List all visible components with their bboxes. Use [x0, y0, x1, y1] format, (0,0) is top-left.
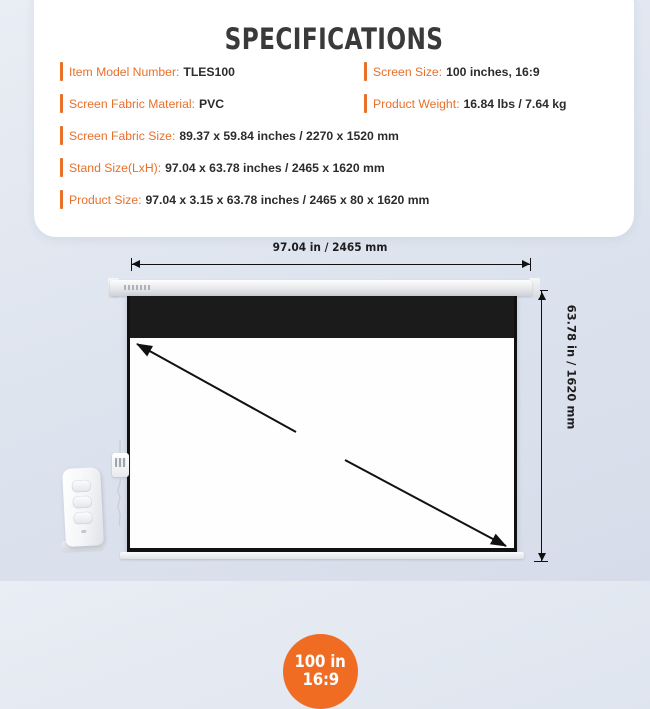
screen-weighted-bar — [120, 552, 524, 559]
arrow-left-icon — [132, 260, 140, 268]
spec-list: Item Model Number: TLES100 Screen Size: … — [60, 60, 616, 220]
spec-item-screen-fabric-size: Screen Fabric Size: 89.37 x 59.84 inches… — [60, 124, 399, 147]
spec-label: Screen Size: — [373, 65, 442, 79]
specifications-card: SPECIFICATIONS Item Model Number: TLES10… — [34, 0, 634, 237]
height-dimension-label: 63.78 in / 1620 mm — [564, 305, 578, 430]
spec-row: Stand Size(LxH): 97.04 x 63.78 inches / … — [60, 156, 616, 179]
spec-item-screen-size: Screen Size: 100 inches, 16:9 — [364, 60, 540, 83]
screen-black-drop — [130, 296, 514, 338]
spec-value: TLES100 — [183, 65, 234, 79]
wall-switch-keys-icon — [115, 458, 126, 467]
screen-casing — [110, 280, 532, 296]
spec-value: PVC — [199, 97, 224, 111]
spec-item-product-size: Product Size: 97.04 x 3.15 x 63.78 inche… — [60, 188, 429, 211]
spec-value: 100 inches, 16:9 — [446, 65, 540, 79]
width-dimension-line — [131, 264, 530, 265]
spec-label: Product Weight: — [373, 97, 460, 111]
screen-size-badge: 100 in 16:9 — [283, 634, 358, 709]
spec-value: 97.04 x 3.15 x 63.78 inches / 2465 x 80 … — [145, 193, 429, 207]
spec-label: Screen Fabric Material: — [69, 97, 195, 111]
remote-stop-button[interactable] — [72, 496, 92, 509]
spec-value: 97.04 x 63.78 inches / 2465 x 1620 mm — [165, 161, 385, 175]
spec-item-stand-size: Stand Size(LxH): 97.04 x 63.78 inches / … — [60, 156, 385, 179]
spec-item-screen-fabric-material: Screen Fabric Material: PVC — [60, 92, 364, 115]
height-dimension-line — [541, 290, 542, 562]
spec-label: Screen Fabric Size: — [69, 129, 175, 143]
product-diagram: 97.04 in / 2465 mm 63.78 in / 1620 mm 10… — [0, 240, 650, 581]
spec-row: Screen Fabric Size: 89.37 x 59.84 inches… — [60, 124, 616, 147]
spec-item-item-model-number: Item Model Number: TLES100 — [60, 60, 364, 83]
spec-row: Screen Fabric Material: PVC Product Weig… — [60, 92, 616, 115]
badge-ratio-label: 16:9 — [302, 672, 339, 689]
spec-value: 89.37 x 59.84 inches / 2270 x 1520 mm — [179, 129, 399, 143]
spec-label: Item Model Number: — [69, 65, 179, 79]
page-title: SPECIFICATIONS — [94, 22, 574, 56]
height-dimension-cap-bottom — [534, 561, 548, 562]
remote-led-indicator — [81, 530, 86, 533]
spec-row: Item Model Number: TLES100 Screen Size: … — [60, 60, 616, 83]
width-dimension-cap-right — [530, 258, 531, 271]
spec-label: Product Size: — [69, 193, 141, 207]
screen-viewing-area — [130, 338, 514, 548]
remote-down-button[interactable] — [73, 512, 93, 525]
spec-label: Stand Size(LxH): — [69, 161, 161, 175]
remote-control — [62, 467, 104, 547]
badge-size-label: 100 in — [295, 654, 346, 671]
spec-item-product-weight: Product Weight: 16.84 lbs / 7.64 kg — [364, 92, 566, 115]
brand-logo — [124, 285, 150, 290]
remote-up-button[interactable] — [72, 480, 92, 493]
projector-screen — [127, 296, 517, 553]
wall-switch[interactable] — [112, 453, 129, 477]
spec-value: 16.84 lbs / 7.64 kg — [464, 97, 567, 111]
spec-row: Product Size: 97.04 x 3.15 x 63.78 inche… — [60, 188, 616, 211]
arrow-right-icon — [522, 260, 530, 268]
width-dimension-label: 97.04 in / 2465 mm — [146, 240, 514, 254]
arrow-down-icon — [538, 553, 546, 561]
